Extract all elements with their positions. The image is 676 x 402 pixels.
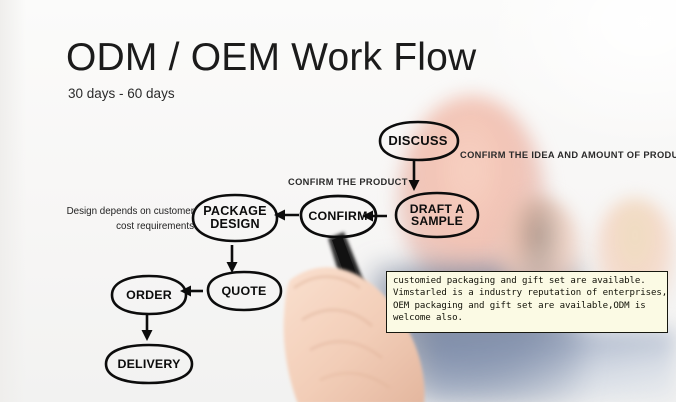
- node-delivery-label: DELIVERY: [117, 358, 180, 371]
- node-discuss[interactable]: DISCUSS: [372, 119, 464, 163]
- annotation-design-note: Design depends on customer cost requirem…: [48, 204, 194, 234]
- node-quote[interactable]: QUOTE: [203, 268, 285, 314]
- note-line-2: Vimstarled is a industry reputation of e…: [393, 287, 663, 299]
- annotation-design-line2: cost requirements: [116, 221, 194, 232]
- node-draft-a-sample[interactable]: DRAFT A SAMPLE: [390, 189, 484, 241]
- workflow-infographic: ODM / OEM Work Flow 30 days - 60 days CO…: [0, 0, 676, 402]
- background-glow: [476, 0, 676, 150]
- node-order[interactable]: ORDER: [107, 272, 191, 318]
- note-box: customied packaging and gift set are ava…: [386, 271, 668, 333]
- note-line-4: welcome also.: [393, 312, 663, 324]
- node-confirm[interactable]: CONFIRM: [296, 192, 380, 240]
- node-discuss-label: DISCUSS: [388, 134, 447, 147]
- node-order-label: ORDER: [126, 289, 172, 302]
- note-line-3: OEM packaging and gift set are available…: [393, 300, 663, 312]
- node-package-label-2: DESIGN: [210, 218, 259, 231]
- page-subtitle: 30 days - 60 days: [68, 86, 175, 101]
- node-package-design[interactable]: PACKAGE DESIGN: [188, 191, 282, 245]
- background-left-edge: [0, 0, 26, 402]
- annotation-confirm-idea: CONFIRM THE IDEA AND AMOUNT OF PRODUCTS: [460, 150, 676, 160]
- annotation-confirm-product: CONFIRM THE PRODUCT: [288, 177, 408, 187]
- node-delivery[interactable]: DELIVERY: [101, 341, 197, 387]
- node-quote-label: QUOTE: [221, 285, 266, 298]
- note-line-1: customied packaging and gift set are ava…: [393, 275, 663, 287]
- node-confirm-label: CONFIRM: [308, 210, 367, 223]
- page-title: ODM / OEM Work Flow: [66, 36, 476, 80]
- annotation-design-line1: Design depends on customer: [67, 206, 194, 217]
- node-draft-label-2: SAMPLE: [411, 215, 463, 227]
